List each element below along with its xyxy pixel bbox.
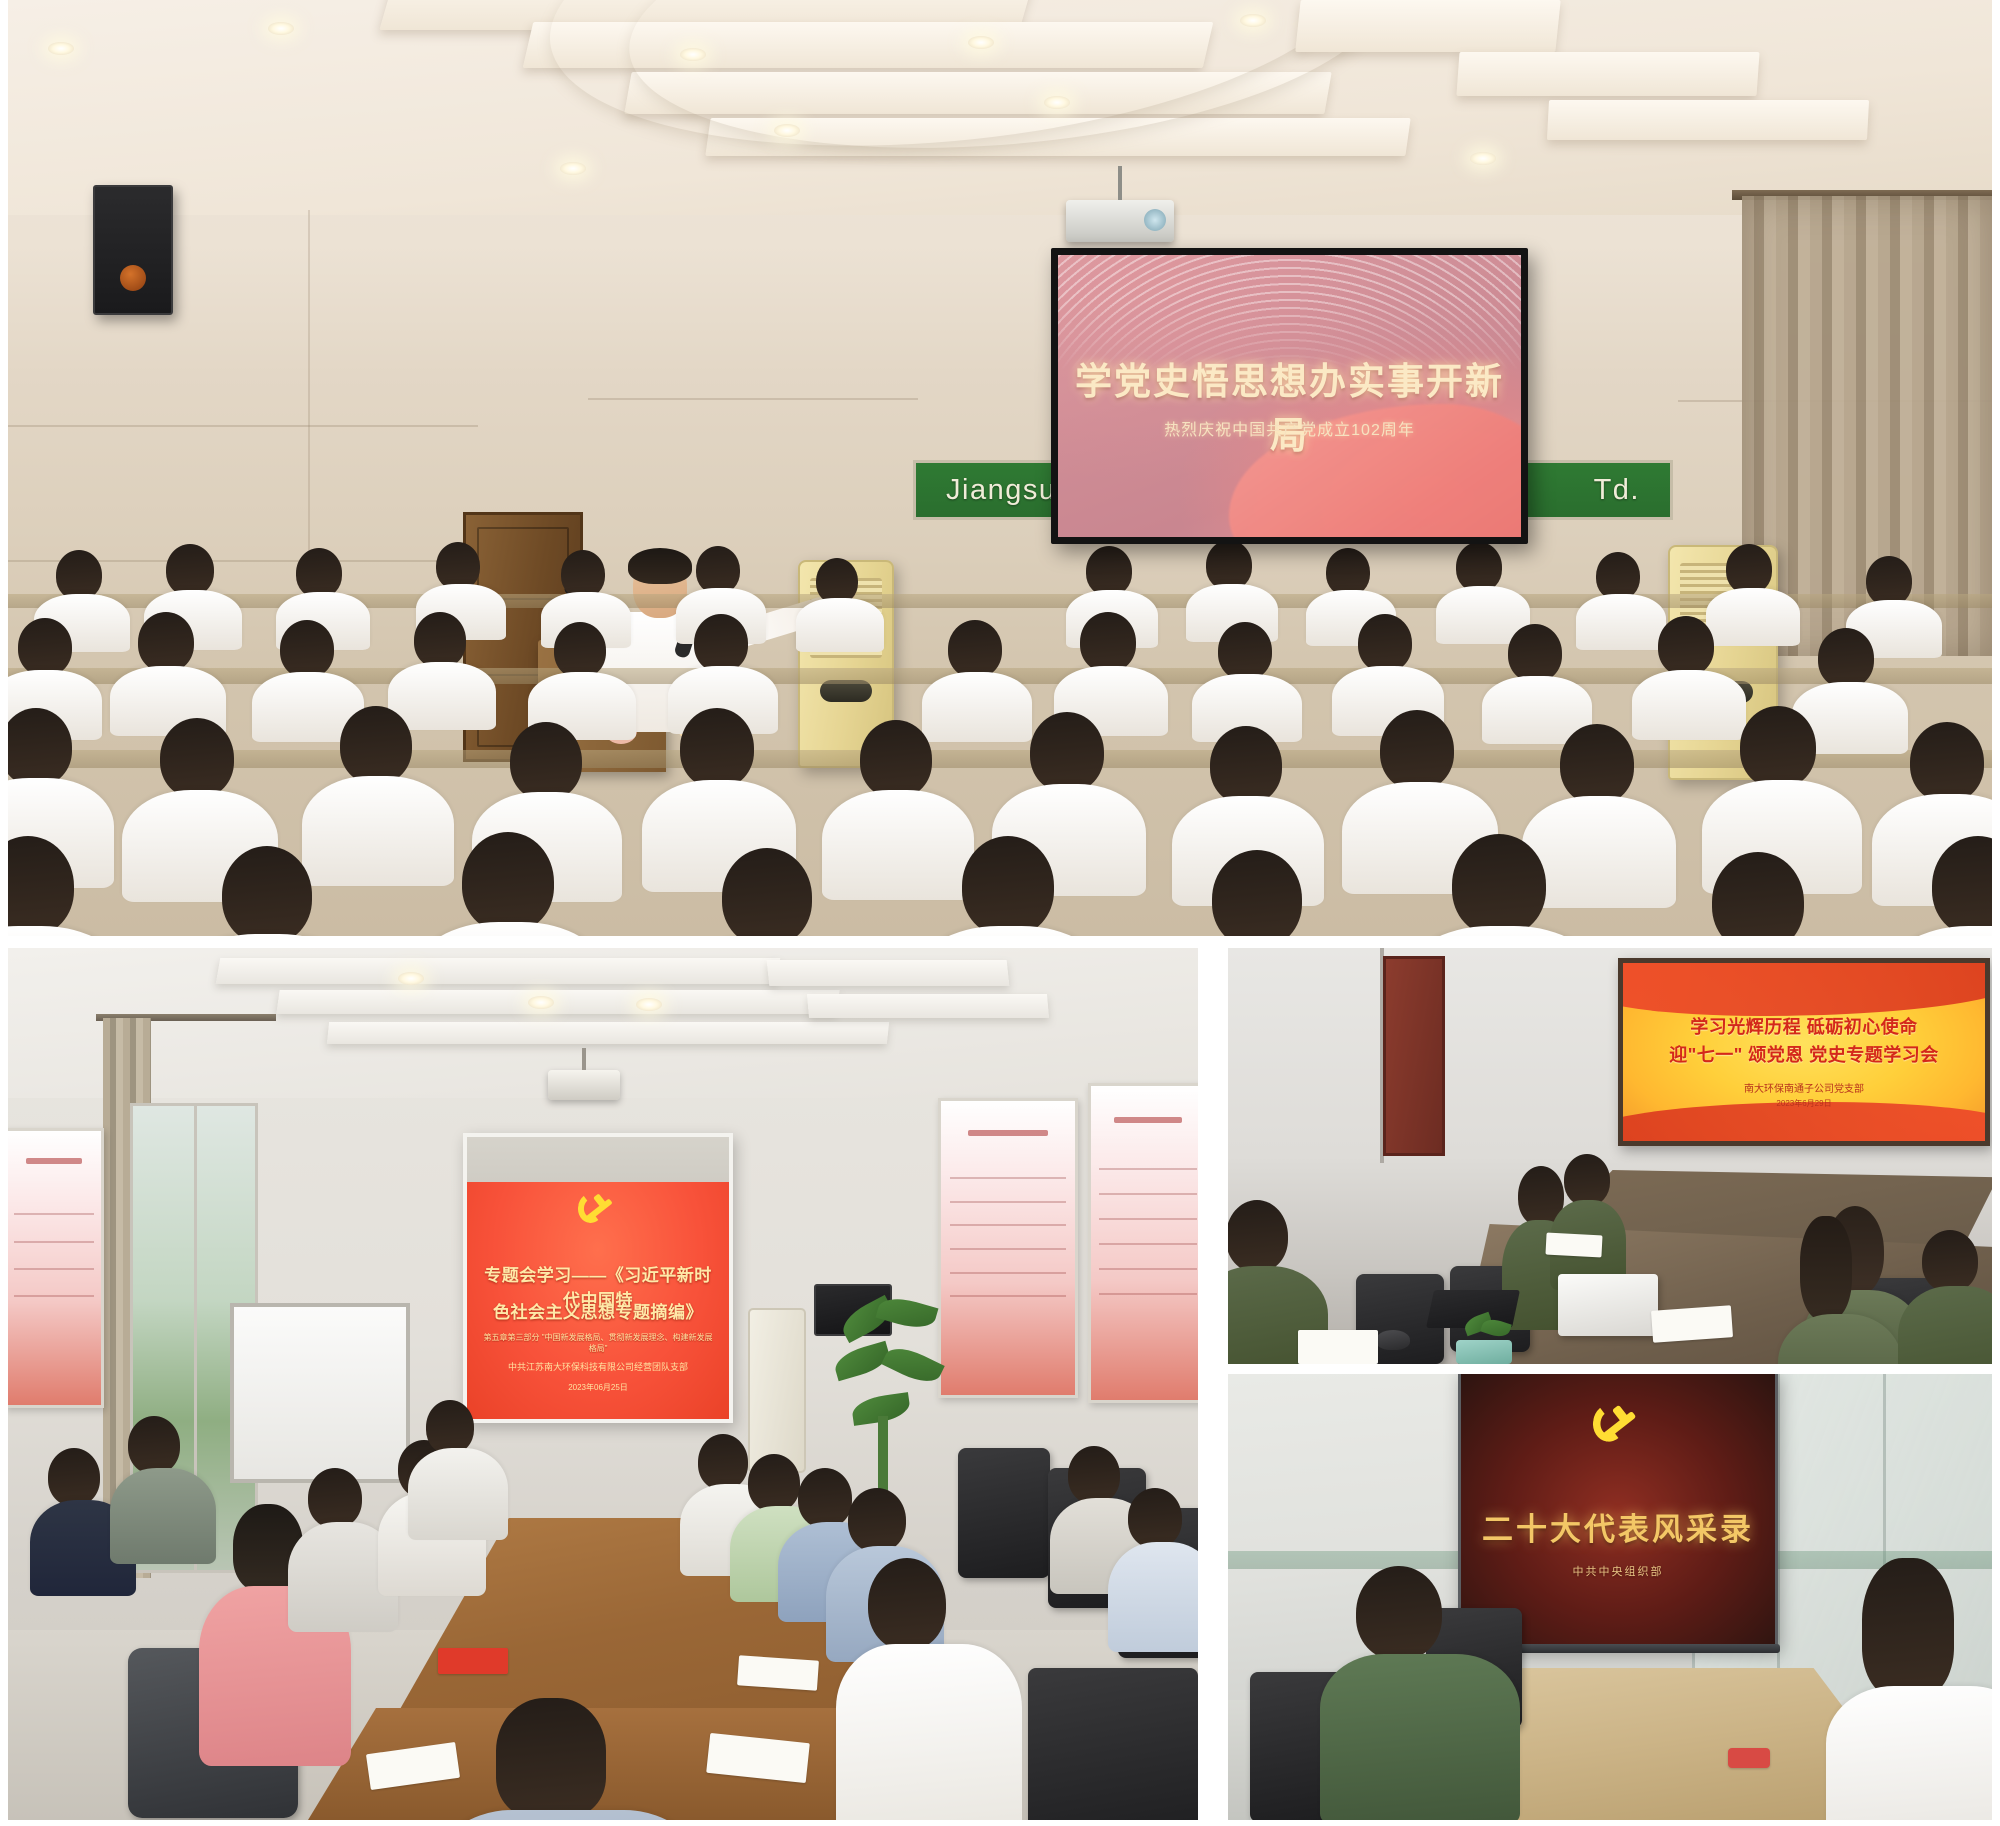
office-chair <box>1028 1668 1198 1820</box>
wall-seam <box>308 210 310 570</box>
party-emblem-icon <box>1593 1401 1643 1444</box>
slide-title: 学党史悟思想办实事开新局 <box>1058 351 1521 459</box>
audience-rows <box>8 536 1992 936</box>
wall-seam <box>588 398 918 400</box>
ceiling-downlight <box>1044 96 1070 109</box>
slide-title: 二十大代表风采录 <box>1477 1504 1760 1549</box>
bonsai-plant <box>1456 1316 1512 1364</box>
slide-title-line2: 色社会主义思想专题摘编》 <box>477 1298 718 1323</box>
panel-divider-vertical <box>1198 936 1228 1826</box>
projection-screen: 专题会学习——《习近平新时代中国特 色社会主义思想专题摘编》 第五章第三部分 "… <box>463 1133 733 1423</box>
document <box>1651 1305 1733 1343</box>
slide-subtitle: 热烈庆祝中国共产党成立102周年 <box>1058 416 1521 440</box>
mobile-phone <box>1728 1748 1770 1768</box>
ceiling-downlight <box>968 36 994 49</box>
document <box>1545 1233 1602 1258</box>
ceiling-slab <box>1456 52 1759 96</box>
ceiling-downlight <box>560 162 586 175</box>
study-booklet <box>438 1648 508 1674</box>
slide-subtext-1: 第五章第三部分 "中国新发展格局、贯彻新发展理念、构建新发展格局" <box>483 1332 714 1354</box>
ceiling-slab <box>1547 100 1869 140</box>
page-margin-left <box>0 0 8 1826</box>
slide-org: 南大环保南通子公司党支部 <box>1645 1080 1964 1095</box>
projector-icon <box>1066 200 1174 242</box>
auditorium-ceiling <box>8 0 1992 215</box>
wall-poster <box>1088 1083 1198 1403</box>
photo-collage: Jiangsu N Td. 学党史悟思想办实事开新局 热烈庆祝中国共产党成立10… <box>0 0 2000 1826</box>
projection-screen-content: 学习光辉历程 砥砺初心使命 迎"七一" 颂党恩 党史专题学习会 南大环保南通子公… <box>1623 963 1985 1141</box>
ceiling-downlight <box>268 22 294 35</box>
projection-screen: 二十大代表风采录 中共中央组织部 <box>1458 1372 1778 1648</box>
slide-title-line2: 迎"七一" 颂党恩 党史专题学习会 <box>1645 1041 1964 1067</box>
page-margin-bottom <box>0 1820 2000 1826</box>
office-chair <box>958 1448 1050 1578</box>
slide-date: 2023年6月29日 <box>1645 1098 1964 1109</box>
panel-conference-room-study: 专题会学习——《习近平新时代中国特 色社会主义思想专题摘编》 第五章第三部分 "… <box>8 948 1198 1820</box>
ceiling-downlight <box>774 124 800 137</box>
ceiling-downlight <box>680 48 706 61</box>
panel-auditorium-assembly: Jiangsu N Td. 学党史悟思想办实事开新局 热烈庆祝中国共产党成立10… <box>8 0 1992 936</box>
whiteboard <box>230 1303 410 1483</box>
projection-screen: 学习光辉历程 砥砺初心使命 迎"七一" 颂党恩 党史专题学习会 南大环保南通子公… <box>1618 958 1990 1146</box>
ceiling-downlight <box>1470 152 1496 165</box>
air-conditioner-unit <box>748 1308 806 1473</box>
document <box>737 1655 819 1691</box>
ceiling-downlight <box>1240 14 1266 27</box>
ceiling-slab <box>1295 0 1560 52</box>
wall-speaker-icon <box>93 185 173 315</box>
wall-poster <box>8 1128 104 1408</box>
glass-frosted-band <box>1228 1551 1468 1569</box>
screen-top-band <box>467 1137 729 1182</box>
projection-screen-content: 二十大代表风采录 中共中央组织部 <box>1461 1373 1775 1645</box>
page-margin-right <box>1992 0 2000 1826</box>
panel-glass-partition-room: 二十大代表风采录 中共中央组织部 <box>1228 1372 1992 1820</box>
slide-subtitle: 中共中央组织部 <box>1477 1563 1760 1579</box>
panel-office-discussion: 学习光辉历程 砥砺初心使命 迎"七一" 颂党恩 党史专题学习会 南大环保南通子公… <box>1228 948 1992 1364</box>
notebook <box>1298 1330 1378 1364</box>
computer-mouse <box>1376 1330 1410 1350</box>
slide-date: 2023年06月25日 <box>483 1382 714 1393</box>
projector-icon <box>548 1070 620 1100</box>
banner-right-text: Td. <box>1594 474 1640 507</box>
party-emblem-icon <box>578 1191 618 1225</box>
wall-poster <box>938 1098 1078 1398</box>
slide-title-line1: 学习光辉历程 砥砺初心使命 <box>1645 1013 1964 1039</box>
projection-screen-content: 学党史悟思想办实事开新局 热烈庆祝中国共产党成立102周年 <box>1058 255 1521 537</box>
office-door <box>1383 956 1445 1156</box>
projection-screen: 学党史悟思想办实事开新局 热烈庆祝中国共产党成立102周年 <box>1051 248 1528 544</box>
ceiling-downlight <box>48 42 74 55</box>
printer <box>1558 1274 1658 1336</box>
decorative-sweep-top <box>1623 963 1985 1016</box>
panel-divider-horizontal <box>0 936 2000 948</box>
projection-screen-content: 专题会学习——《习近平新时代中国特 色社会主义思想专题摘编》 第五章第三部分 "… <box>467 1137 729 1419</box>
wall-seam <box>8 425 478 427</box>
slide-subtext-2: 中共江苏南大环保科技有限公司经营团队支部 <box>483 1360 714 1373</box>
panel-divider-right-horizontal <box>1198 1364 2000 1374</box>
